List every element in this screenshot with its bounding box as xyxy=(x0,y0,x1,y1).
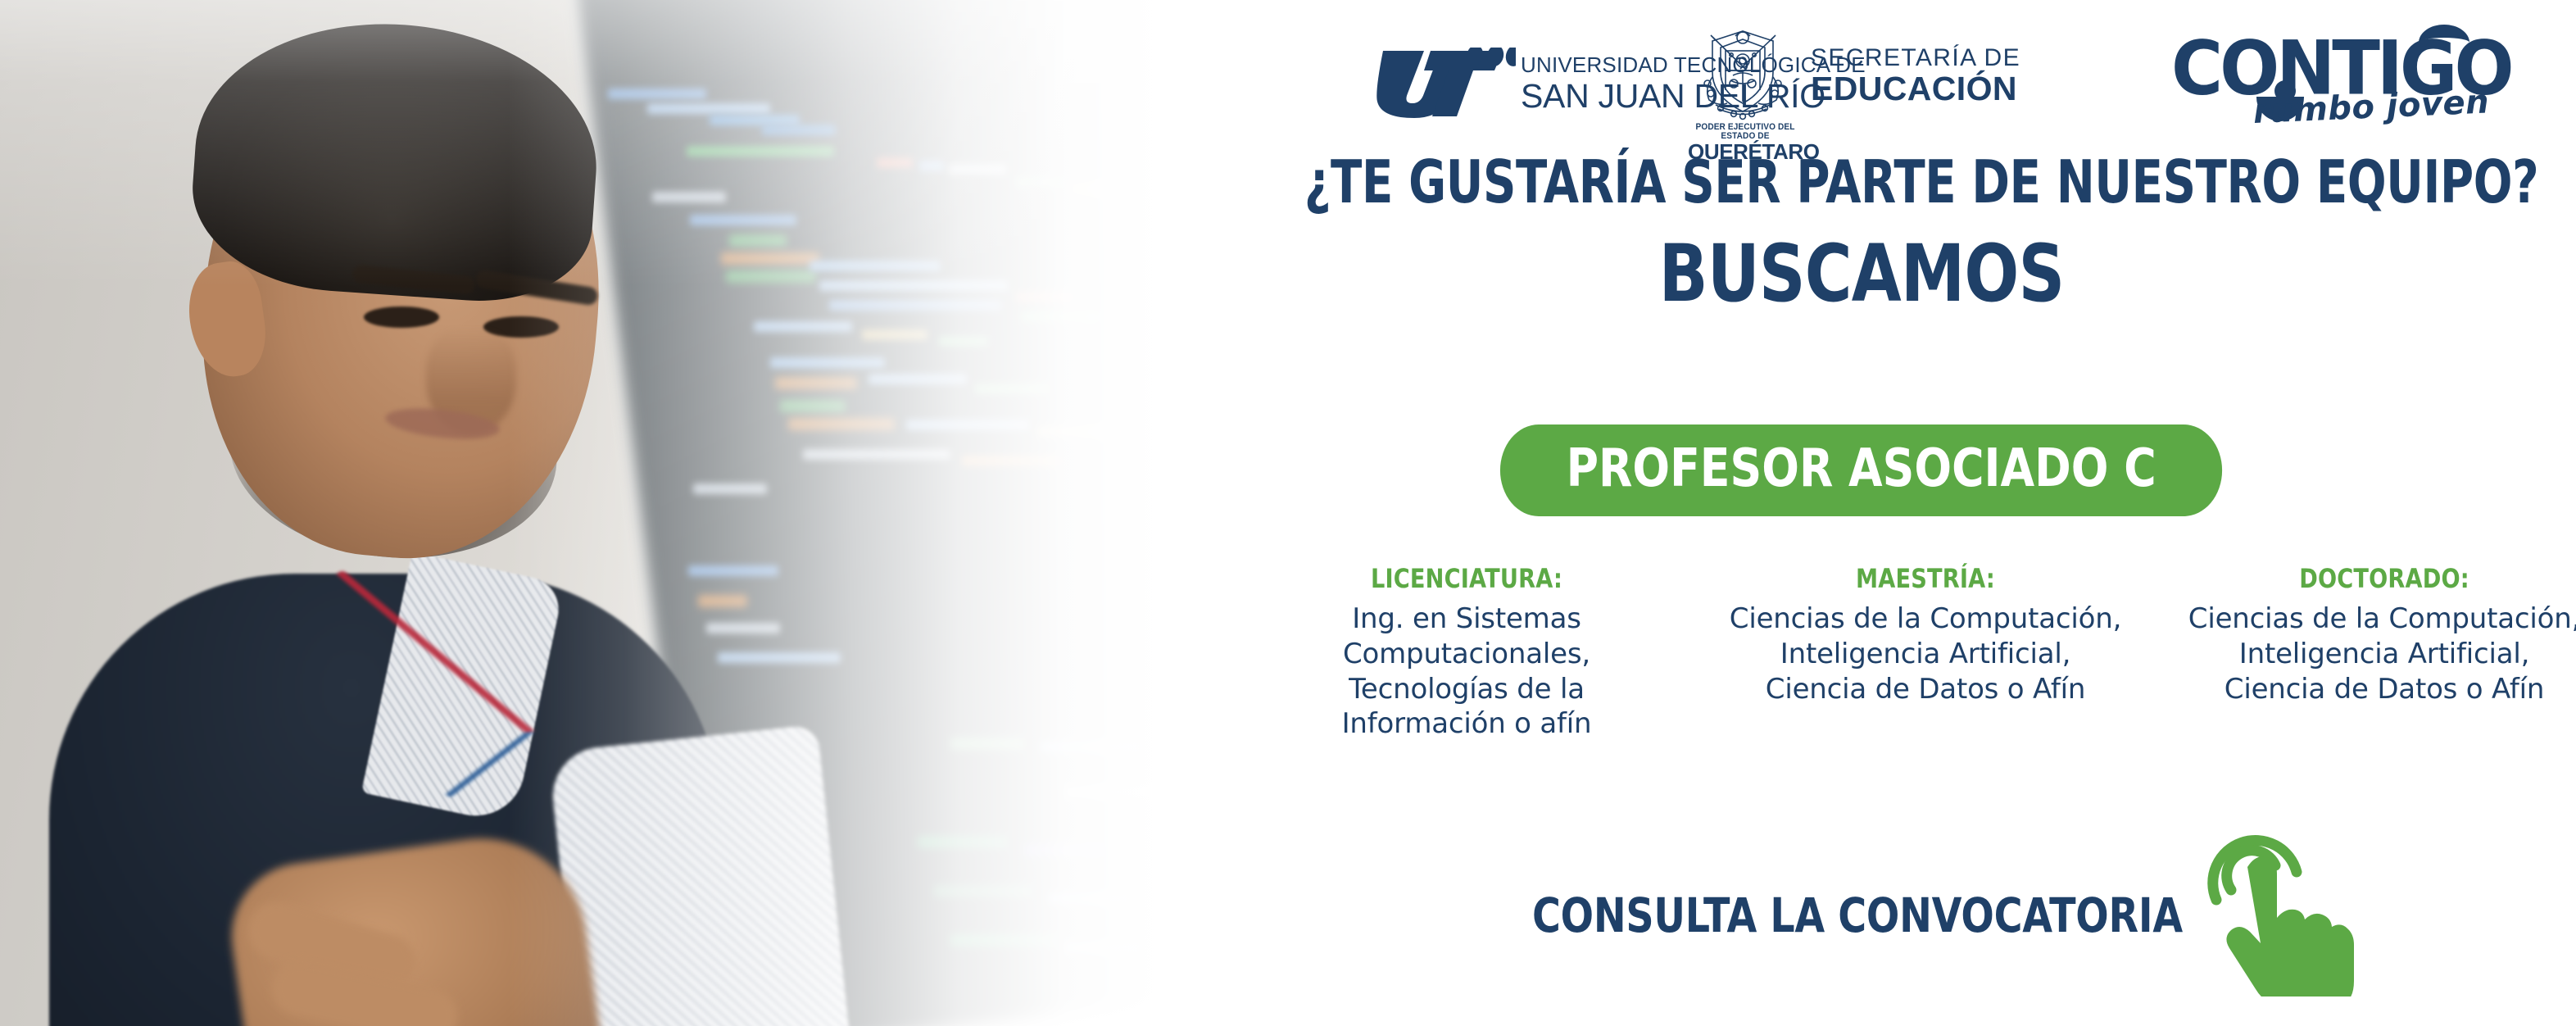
cta-label[interactable]: CONSULTA LA CONVOCATORIA xyxy=(1532,892,2183,939)
position-pill-wrap: PROFESOR ASOCIADO C xyxy=(1147,424,2576,516)
requirement-column-maestria: MAESTRÍA: Ciencias de la Computación, In… xyxy=(1729,565,2122,706)
requirement-level-label: LICENCIATURA: xyxy=(1299,565,1634,592)
secretaria-educacion-logo: PODER EJECUTIVO DEL ESTADO DE QUERÉTARO … xyxy=(1688,26,2048,149)
requirement-detail-text: Ciencias de la Computación, Inteligencia… xyxy=(2188,602,2576,706)
queretaro-coat-of-arms-icon xyxy=(1688,26,1798,125)
poder-ejecutivo-text: PODER EJECUTIVO DEL ESTADO DE xyxy=(1693,123,1798,141)
secretaria-wordmark: SECRETARÍA DE EDUCACIÓN xyxy=(1811,44,2020,107)
photo-top-fade xyxy=(0,0,1229,1026)
requirement-level-label: DOCTORADO: xyxy=(2217,565,2551,592)
requirement-detail-text: Ing. en Sistemas Computacionales, Tecnol… xyxy=(1270,602,1663,742)
recruitment-banner: UNIVERSIDAD TECNOLÓGICA DE SAN JUAN DEL … xyxy=(0,0,2576,1026)
headline-buscamos: BUSCAMOS xyxy=(1276,234,2447,313)
requirement-detail-text: Ciencias de la Computación, Inteligencia… xyxy=(1729,602,2122,706)
contigo-logo: CONTIGO rumbo joven xyxy=(2171,31,2515,146)
secretaria-line-2: EDUCACIÓN xyxy=(1811,71,2020,107)
content-panel: UNIVERSIDAD TECNOLÓGICA DE SAN JUAN DEL … xyxy=(1147,0,2576,1026)
position-pill[interactable]: PROFESOR ASOCIADO C xyxy=(1500,424,2222,516)
tap-hand-icon[interactable] xyxy=(2184,808,2372,996)
requirement-column-licenciatura: LICENCIATURA: Ing. en Sistemas Computaci… xyxy=(1270,565,1663,742)
developer-photo xyxy=(0,0,1229,1026)
logo-row: UNIVERSIDAD TECNOLÓGICA DE SAN JUAN DEL … xyxy=(1147,23,2576,162)
requirement-column-doctorado: DOCTORADO: Ciencias de la Computación, I… xyxy=(2188,565,2576,706)
contigo-face-brow-icon xyxy=(2419,25,2469,61)
headline-block: ¿TE GUSTARÍA SER PARTE DE NUESTRO EQUIPO… xyxy=(1147,152,2576,313)
requirements-columns: LICENCIATURA: Ing. en Sistemas Computaci… xyxy=(1270,565,2576,742)
secretaria-line-1: SECRETARÍA DE xyxy=(1811,44,2020,71)
requirement-level-label: MAESTRÍA: xyxy=(1758,565,2093,592)
headline-question: ¿TE GUSTARÍA SER PARTE DE NUESTRO EQUIPO… xyxy=(1304,152,2419,211)
ut-monogram-icon xyxy=(1376,48,1516,118)
